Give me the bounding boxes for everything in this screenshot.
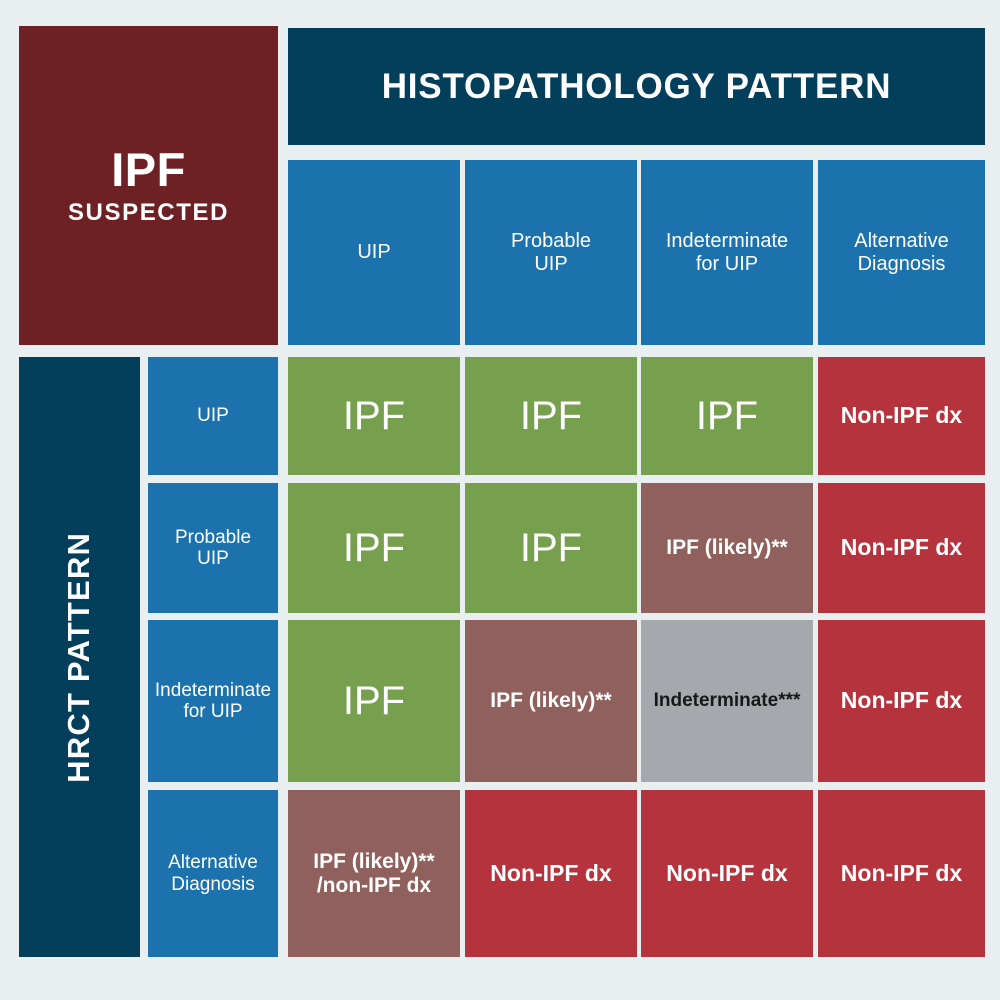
row-header-indeterminate-for-uip: Indeterminatefor UIP [148, 620, 278, 782]
result-cell: IPF [288, 483, 460, 613]
result-cell: IPF [465, 357, 637, 475]
result-cell: IPF [465, 483, 637, 613]
row-header-uip: UIP [148, 357, 278, 475]
histopathology-pattern-banner: HISTOPATHOLOGY PATTERN [288, 28, 985, 145]
column-header-uip: UIP [288, 160, 460, 345]
row-header-probable-uip: ProbableUIP [148, 483, 278, 613]
row-header-alternative-diagnosis: AlternativeDiagnosis [148, 790, 278, 957]
result-cell: IPF (likely)** [465, 620, 637, 782]
result-cell: IPF [288, 620, 460, 782]
result-cell: Non-IPF dx [818, 483, 985, 613]
result-cell: Indeterminate*** [641, 620, 813, 782]
result-cell: IPF [641, 357, 813, 475]
ipf-suspected-subtitle: SUSPECTED [68, 200, 229, 227]
result-cell: Non-IPF dx [465, 790, 637, 957]
hrct-pattern-axis-label: HRCT PATTERN [62, 532, 97, 783]
result-cell: Non-IPF dx [818, 790, 985, 957]
ipf-suspected-title: IPF [111, 144, 186, 197]
result-cell: IPF (likely)** [641, 483, 813, 613]
column-header-indeterminate-for-uip: Indeterminatefor UIP [641, 160, 813, 345]
column-header-probable-uip: ProbableUIP [465, 160, 637, 345]
result-cell: IPF [288, 357, 460, 475]
result-cell: Non-IPF dx [818, 357, 985, 475]
result-cell: IPF (likely)**/non-IPF dx [288, 790, 460, 957]
ipf-diagnosis-matrix: IPF SUSPECTED HISTOPATHOLOGY PATTERN UIP… [0, 0, 1000, 1000]
result-cell: Non-IPF dx [641, 790, 813, 957]
result-cell: Non-IPF dx [818, 620, 985, 782]
ipf-suspected-block: IPF SUSPECTED [19, 26, 278, 345]
column-header-alternative-diagnosis: AlternativeDiagnosis [818, 160, 985, 345]
hrct-pattern-axis-bar: HRCT PATTERN [19, 357, 140, 957]
